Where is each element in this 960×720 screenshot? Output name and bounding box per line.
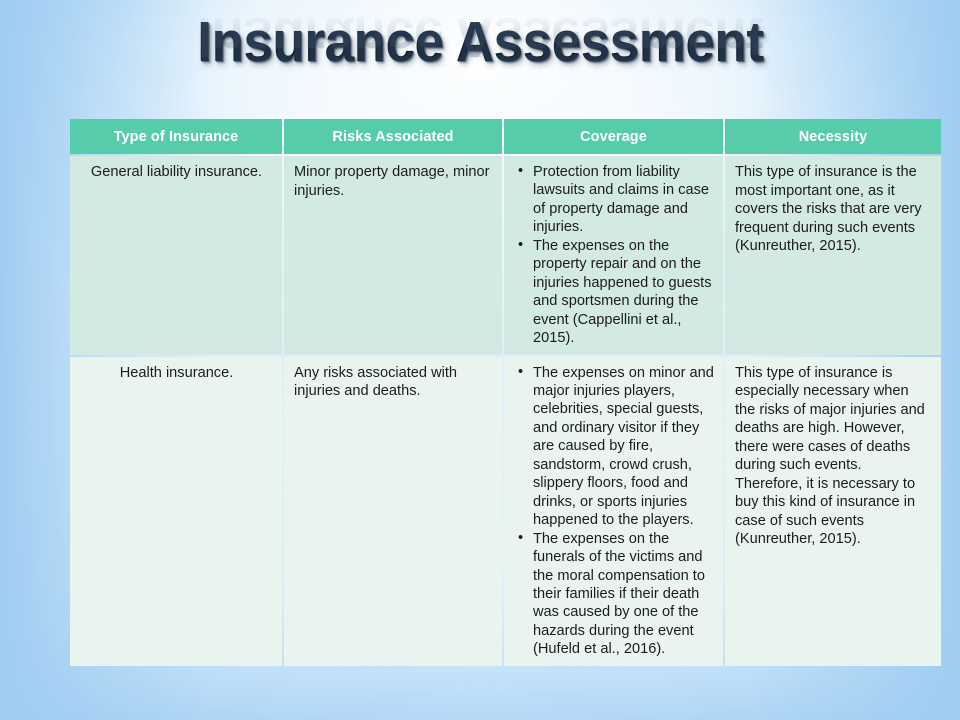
column-header-type-of-insurance: Type of Insurance [70,119,282,154]
cell-coverage: •Protection from liability lawsuits and … [504,156,723,355]
list-item-text: Protection from liability lawsuits and c… [533,164,709,235]
list-item: •The expenses on the property repair and… [514,237,714,348]
cell-risks-associated: Any risks associated with injuries and d… [284,357,502,666]
bullet-icon: • [518,529,523,547]
cell-risks-associated: Minor property damage, minor injuries. [284,156,502,355]
table-row: General liability insurance. Minor prope… [70,156,941,355]
column-header-necessity: Necessity [725,119,941,154]
cell-type-of-insurance: General liability insurance. [70,156,282,355]
coverage-bullet-list: •The expenses on minor and major injurie… [514,364,714,659]
insurance-assessment-table: Type of Insurance Risks Associated Cover… [68,117,943,668]
table-body: General liability insurance. Minor prope… [70,156,941,666]
page-title: Insurance Assessment [197,14,763,71]
bullet-icon: • [518,162,523,180]
cell-coverage: •The expenses on minor and major injurie… [504,357,723,666]
column-header-risks-associated: Risks Associated [284,119,502,154]
table-row: Health insurance. Any risks associated w… [70,357,941,666]
table-header: Type of Insurance Risks Associated Cover… [70,119,941,154]
list-item: •Protection from liability lawsuits and … [514,163,714,237]
cell-type-of-insurance: Health insurance. [70,357,282,666]
cell-necessity: This type of insurance is especially nec… [725,357,941,666]
cell-necessity: This type of insurance is the most impor… [725,156,941,355]
coverage-bullet-list: •Protection from liability lawsuits and … [514,163,714,348]
bullet-icon: • [518,363,523,381]
column-header-coverage: Coverage [504,119,723,154]
table-header-row: Type of Insurance Risks Associated Cover… [70,119,941,154]
list-item-text: The expenses on minor and major injuries… [533,365,714,529]
list-item-text: The expenses on the funerals of the vict… [533,531,705,658]
list-item: •The expenses on the funerals of the vic… [514,530,714,659]
assessment-table-container: Type of Insurance Risks Associated Cover… [68,117,933,720]
list-item: •The expenses on minor and major injurie… [514,364,714,530]
bullet-icon: • [518,236,523,254]
list-item-text: The expenses on the property repair and … [533,238,712,346]
slide-title-area: Insurance Assessment Insurance Assessmen… [0,14,960,114]
page-title-reflection: Insurance Assessment [34,8,927,65]
